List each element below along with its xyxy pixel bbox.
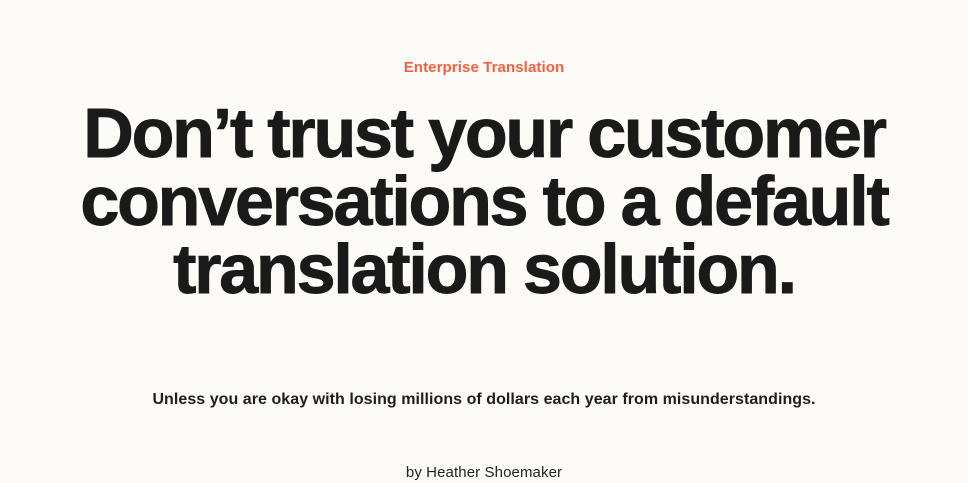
subheadline: Unless you are okay with losing millions… [34,389,934,411]
headline-line-1: Don’t trust your customer [54,99,914,167]
headline-line-2: conversations to a default [54,167,914,235]
headline-line-3: translation solution. [54,235,914,303]
author-byline: by Heather Shoemaker [406,463,562,483]
page-title: Don’t trust your customer conversations … [54,99,914,303]
hero-section: Enterprise Translation Don’t trust your … [0,0,968,443]
eyebrow-label: Enterprise Translation [404,58,565,78]
